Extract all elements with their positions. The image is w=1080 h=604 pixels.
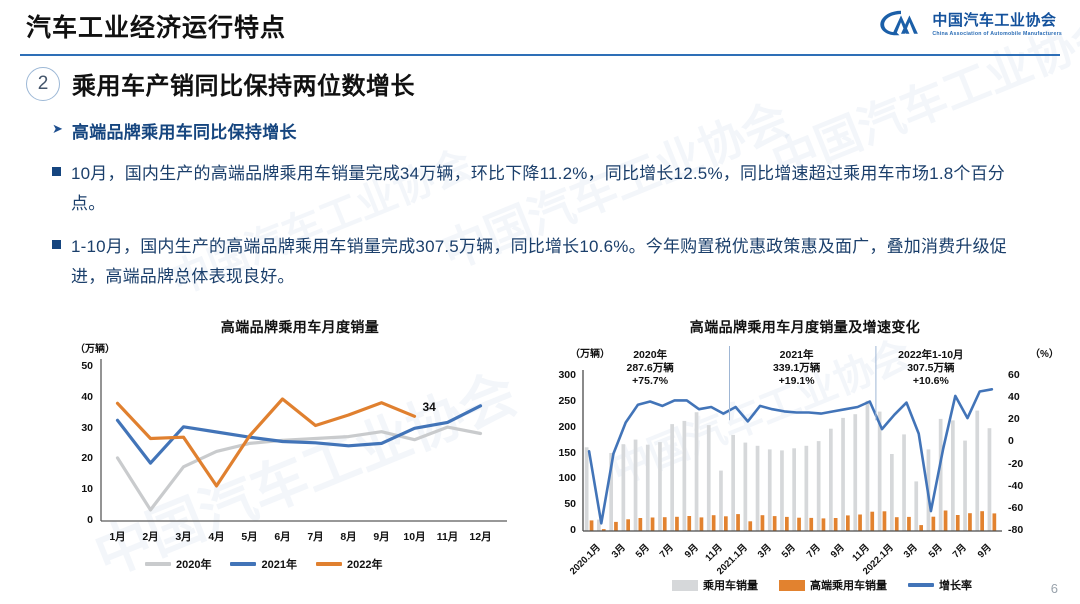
bar-premium [883,511,887,531]
bar-passenger [658,442,662,531]
bar-passenger [695,412,699,531]
bar-premium [797,518,801,531]
legend-item-2021年: 2021年 [230,556,296,572]
sub-heading: ➤ 高端品牌乘用车同比保持增长 [52,118,1052,143]
bar-premium [944,511,948,532]
right-chart-ytick-left: 0 [543,524,576,536]
header-divider [20,54,1060,56]
right-chart-title: 高端品牌乘用车月度销量及增速变化 [620,317,990,337]
legend-swatch [316,562,342,565]
right-chart-ytick-left: 200 [543,421,576,433]
line-growth-rate [589,389,992,523]
section-number-badge: 2 [26,67,60,101]
right-chart-ytick-left: 250 [543,395,576,407]
bar-passenger [939,419,943,531]
bullet-text: 1-10月，国内生产的高端品牌乘用车销量完成307.5万辆，同比增长10.6%。… [71,232,1031,292]
bar-passenger [975,411,979,531]
right-chart-annotation: 2021年 339.1万辆 +19.1% [742,349,852,388]
bar-passenger [902,434,906,531]
bar-passenger [634,440,638,531]
right-chart-annotation: 2022年1-10月 307.5万辆 +10.6% [876,349,986,388]
right-chart-ytick-right: 60 [1008,369,1038,381]
bar-passenger [792,448,796,531]
right-chart-ytick-right: 20 [1008,413,1038,425]
bar-premium [675,517,679,531]
bar-passenger [719,471,723,531]
bar-premium [809,518,813,531]
bullet-text: 10月，国内生产的高端品牌乘用车销量完成34万辆，环比下降11.2%，同比增长1… [71,159,1031,219]
bar-premium [895,517,899,531]
bar-premium [907,517,911,531]
bar-premium [590,520,594,531]
left-chart-y-unit: （万辆） [75,340,115,355]
bar-passenger [731,435,735,531]
bar-passenger [756,446,760,531]
bar-premium [956,515,960,531]
bar-premium [932,517,936,531]
legend-swatch [230,562,256,565]
left-chart-ytick: 50 [61,360,93,372]
square-bullet-icon [52,167,61,176]
bar-premium [773,516,777,531]
legend-item-乘用车销量: 乘用车销量 [672,577,758,593]
right-chart-ytick-right: -20 [1008,458,1038,470]
logo-text-en: China Association of Automobile Manufact… [932,31,1062,37]
right-chart-ytick-right: -60 [1008,502,1038,514]
bar-passenger [585,447,589,531]
section-title: 乘用车产销同比保持两位数增长 [72,66,415,101]
bar-premium [614,522,618,531]
bar-premium [748,521,752,531]
right-chart-y-unit-right: （%） [1030,345,1059,360]
square-bullet-icon [52,240,61,249]
legend-swatch [145,562,171,565]
bar-passenger [829,429,833,531]
bar-passenger [670,424,674,531]
page-title: 汽车工业经济运行特点 [26,8,286,44]
bullet-item: 1-10月，国内生产的高端品牌乘用车销量完成307.5万辆，同比增长10.6%。… [52,232,1052,292]
bar-passenger [927,449,931,531]
bar-premium [602,529,606,531]
legend-label: 增长率 [939,577,972,593]
left-chart-point-label: 34 [423,400,436,414]
right-chart-ytick-right: 0 [1008,435,1038,447]
left-chart-ytick: 30 [61,422,93,434]
bar-passenger [622,444,626,531]
bar-premium [919,525,923,531]
right-chart-legend: 乘用车销量高端乘用车销量增长率 [672,577,986,593]
left-chart-ytick: 0 [61,514,93,526]
bar-passenger [866,401,870,531]
legend-label: 2021年 [261,556,296,572]
right-chart-ytick-left: 300 [543,369,576,381]
page-number: 6 [1051,581,1058,596]
bar-premium [712,515,716,531]
bar-passenger [988,428,992,531]
bar-premium [687,516,691,531]
left-chart-series-2020年 [118,427,481,510]
legend-item-2022年: 2022年 [316,556,382,572]
logo-text-cn: 中国汽车工业协会 [932,9,1062,30]
bar-passenger [597,520,601,531]
section-heading: 2 乘用车产销同比保持两位数增长 [26,66,415,101]
right-chart-ytick-right: 40 [1008,391,1038,403]
right-chart-annotation: 2020年 287.6万辆 +75.7% [595,349,705,388]
left-chart-series-2022年 [118,399,415,486]
legend-item-高端乘用车销量: 高端乘用车销量 [779,577,887,593]
bar-premium [663,517,667,531]
right-chart-ytick-right: -80 [1008,524,1038,536]
bar-passenger [951,420,955,531]
bar-passenger [878,412,882,531]
right-chart-ytick-left: 150 [543,447,576,459]
bar-passenger [963,441,967,531]
bar-premium [822,518,826,531]
slide-header: 汽车工业经济运行特点 中国汽车工业协会 China Association of… [0,0,1080,56]
bar-premium [761,515,765,531]
right-chart-ytick-left: 50 [543,498,576,510]
legend-swatch [779,580,805,591]
body-content: ➤ 高端品牌乘用车同比保持增长 10月，国内生产的高端品牌乘用车销量完成34万辆… [52,118,1052,305]
left-chart-xtick: 12月 [461,529,501,544]
legend-label: 2022年 [347,556,382,572]
bar-premium [639,518,643,531]
bar-premium [968,513,972,531]
bar-premium [870,512,874,531]
bar-premium [700,517,704,531]
bar-premium [785,517,789,531]
bar-passenger [780,450,784,531]
bar-premium [993,513,997,531]
left-chart-title: 高端品牌乘用车月度销量 [80,317,520,337]
bar-passenger [646,445,650,531]
bar-passenger [768,449,772,531]
legend-label: 高端乘用车销量 [810,577,887,593]
slide-root: 中国汽车工业协会 中国汽车工业协会 中国汽车工业协会 中国汽车工业协会 中国汽车… [0,0,1080,604]
legend-swatch [908,583,934,586]
left-chart-series-2021年 [118,406,481,463]
bar-premium [626,519,630,531]
right-chart-ytick-left: 100 [543,472,576,484]
bar-passenger [890,454,894,531]
bar-premium [724,516,728,531]
bar-premium [651,518,655,532]
legend-item-增长率: 增长率 [908,577,972,593]
legend-label: 2020年 [176,556,211,572]
bar-passenger [707,425,711,531]
legend-item-2020年: 2020年 [145,556,211,572]
bar-premium [736,514,740,531]
bar-passenger [853,414,857,531]
brand-logo: 中国汽车工业协会 China Association of Automobile… [878,8,1062,38]
legend-label: 乘用车销量 [703,577,758,593]
bar-passenger [805,446,809,531]
caam-logo-icon [878,8,924,38]
legend-swatch [672,580,698,591]
left-chart-ytick: 20 [61,452,93,464]
left-chart-ytick: 10 [61,483,93,495]
bar-passenger [609,453,613,531]
right-chart-ytick-right: -40 [1008,480,1038,492]
arrow-right-icon: ➤ [52,118,63,140]
bar-passenger [817,441,821,531]
left-chart-legend: 2020年2021年2022年 [145,556,394,572]
bar-premium [846,515,850,531]
bullet-item: 10月，国内生产的高端品牌乘用车销量完成34万辆，环比下降11.2%，同比增长1… [52,159,1052,219]
bar-passenger [914,481,918,531]
sub-heading-label: 高端品牌乘用车同比保持增长 [72,118,297,143]
bar-premium [858,515,862,532]
bar-passenger [683,421,687,531]
bar-passenger [744,443,748,531]
bar-passenger [841,418,845,531]
left-chart-ytick: 40 [61,391,93,403]
bar-premium [980,511,984,531]
bar-premium [834,518,838,531]
